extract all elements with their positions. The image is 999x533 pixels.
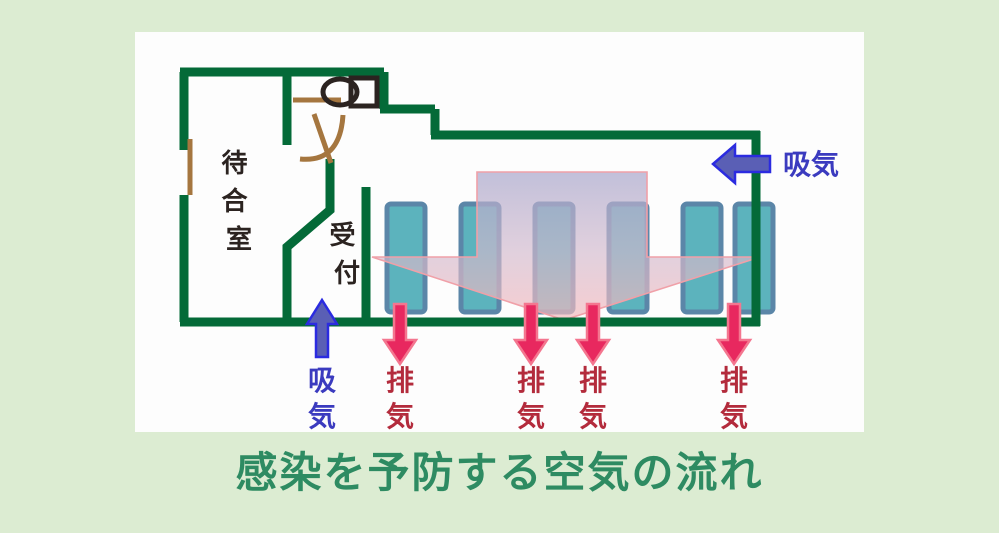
room-label-waiting-2: 合: [221, 186, 248, 217]
exhaust-label-1: 排気: [386, 364, 414, 432]
room-label-reception-1: 受: [329, 220, 355, 251]
intake-marker-reception: 吸気: [307, 300, 337, 432]
floorplan-panel: 待 合 室 受 付 吸気 吸気: [135, 32, 864, 432]
door-swing-icon: [300, 114, 343, 163]
intake-label-right: 吸気: [783, 148, 839, 181]
room-labels-group: 待 合 室 受 付: [221, 149, 364, 289]
room-label-waiting-1: 待: [221, 149, 247, 179]
exhaust-label-4: 排気: [720, 364, 748, 432]
exhaust-label-3: 排気: [579, 364, 607, 432]
room-label-waiting: 待 合 室: [221, 149, 256, 255]
arrow-up-icon: [307, 300, 337, 357]
intake-label-reception: 吸気: [308, 364, 336, 432]
arrow-left-icon: [713, 145, 770, 183]
floorplan-svg: 待 合 室 受 付 吸気 吸気: [135, 32, 864, 432]
windows-group: [190, 100, 341, 195]
room-label-waiting-3: 室: [226, 224, 252, 255]
figure-root: 待 合 室 受 付 吸気 吸気: [0, 0, 999, 533]
intake-marker-right: 吸気: [713, 145, 839, 183]
wall-reception-angled: [287, 159, 330, 322]
exhaust-label-2: 排気: [517, 364, 545, 432]
room-label-reception-2: 付: [334, 259, 360, 289]
toilet-icon: [323, 78, 377, 106]
figure-caption: 感染を予防する空気の流れ: [0, 450, 999, 496]
room-label-reception: 受 付: [329, 220, 364, 289]
